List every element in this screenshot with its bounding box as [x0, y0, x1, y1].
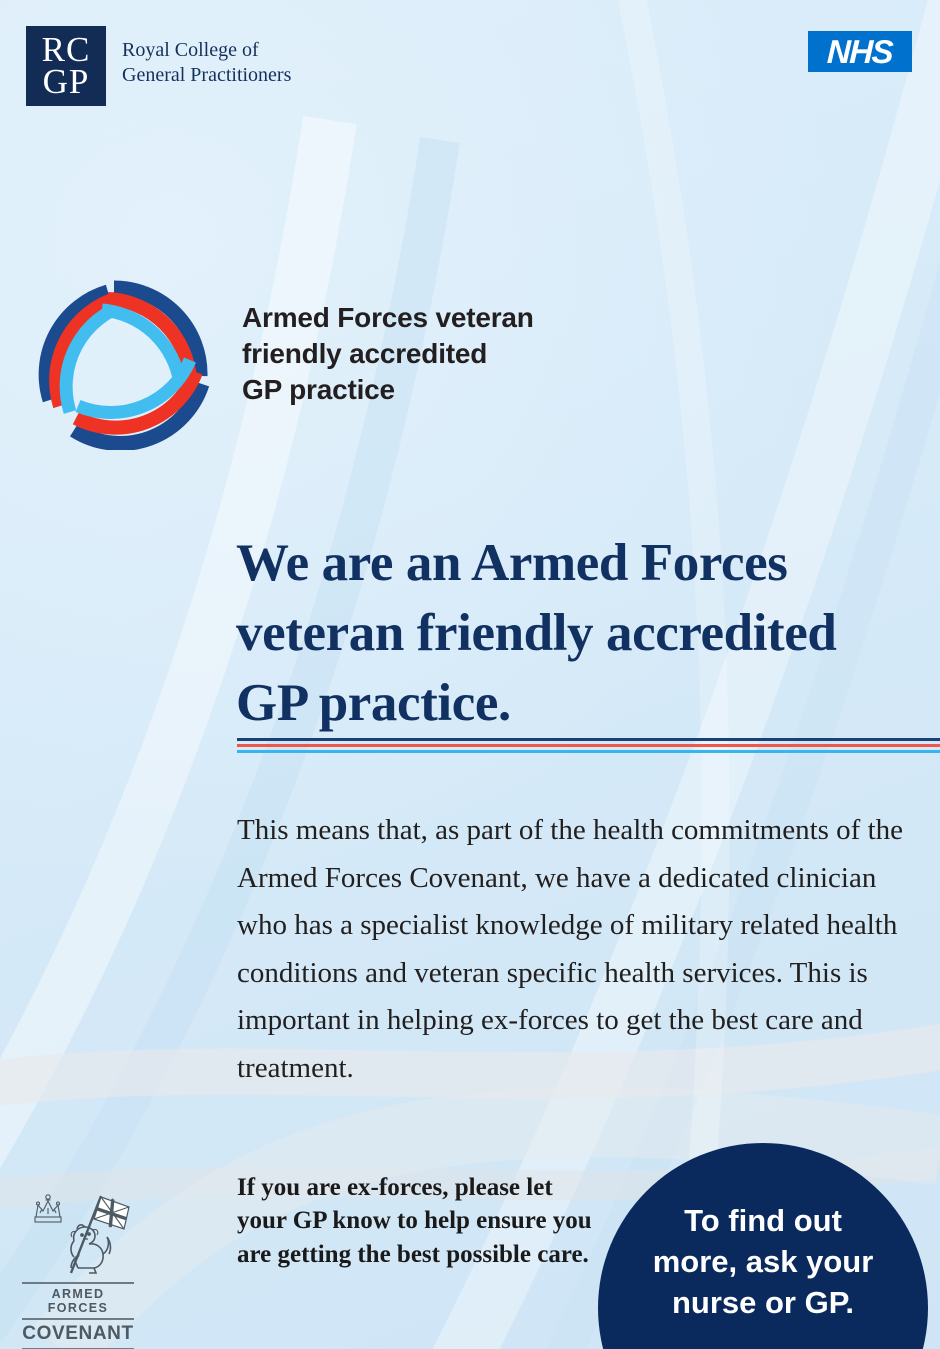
page-title: We are an Armed Forces veteran friendly …: [236, 528, 906, 739]
find-out-more-badge: To find out more, ask your nurse or GP.: [598, 1143, 928, 1349]
covenant-lion-crown-flag-icon: [22, 1183, 134, 1279]
poster-canvas: RC GP Royal College of General Practitio…: [0, 0, 940, 1349]
nhs-logo: NHS: [808, 31, 912, 72]
find-out-more-text: To find out more, ask your nurse or GP.: [638, 1201, 888, 1324]
body-paragraph: This means that, as part of the health c…: [237, 807, 917, 1092]
divider-stripe-red: [237, 744, 940, 747]
covenant-line1: ARMED FORCES: [22, 1287, 134, 1315]
covenant-rule-top: [22, 1282, 134, 1284]
armed-forces-veteran-swirl-icon: [30, 272, 220, 450]
accreditation-block: Armed Forces veteran friendly accredited…: [30, 272, 534, 450]
accreditation-title: Armed Forces veteran friendly accredited…: [242, 272, 534, 408]
covenant-rule-mid: [22, 1318, 134, 1320]
rcgp-monogram-line2: GP: [43, 66, 90, 98]
nhs-logo-label: NHS: [827, 33, 894, 71]
covenant-line2: COVENANT: [22, 1323, 134, 1345]
covenant-wordmark: ARMED FORCES COVENANT: [22, 1282, 134, 1349]
callout-paragraph: If you are ex-forces, please let your GP…: [237, 1171, 607, 1271]
rcgp-logo: RC GP Royal College of General Practitio…: [26, 26, 291, 106]
divider-stripe-navy: [237, 738, 940, 741]
divider-stripe-lightblue: [237, 750, 940, 753]
rcgp-monogram-icon: RC GP: [26, 26, 106, 106]
armed-forces-covenant-logo: ARMED FORCES COVENANT: [22, 1183, 134, 1349]
rcgp-wordmark: Royal College of General Practitioners: [122, 26, 291, 88]
tricolour-divider: [237, 738, 940, 754]
